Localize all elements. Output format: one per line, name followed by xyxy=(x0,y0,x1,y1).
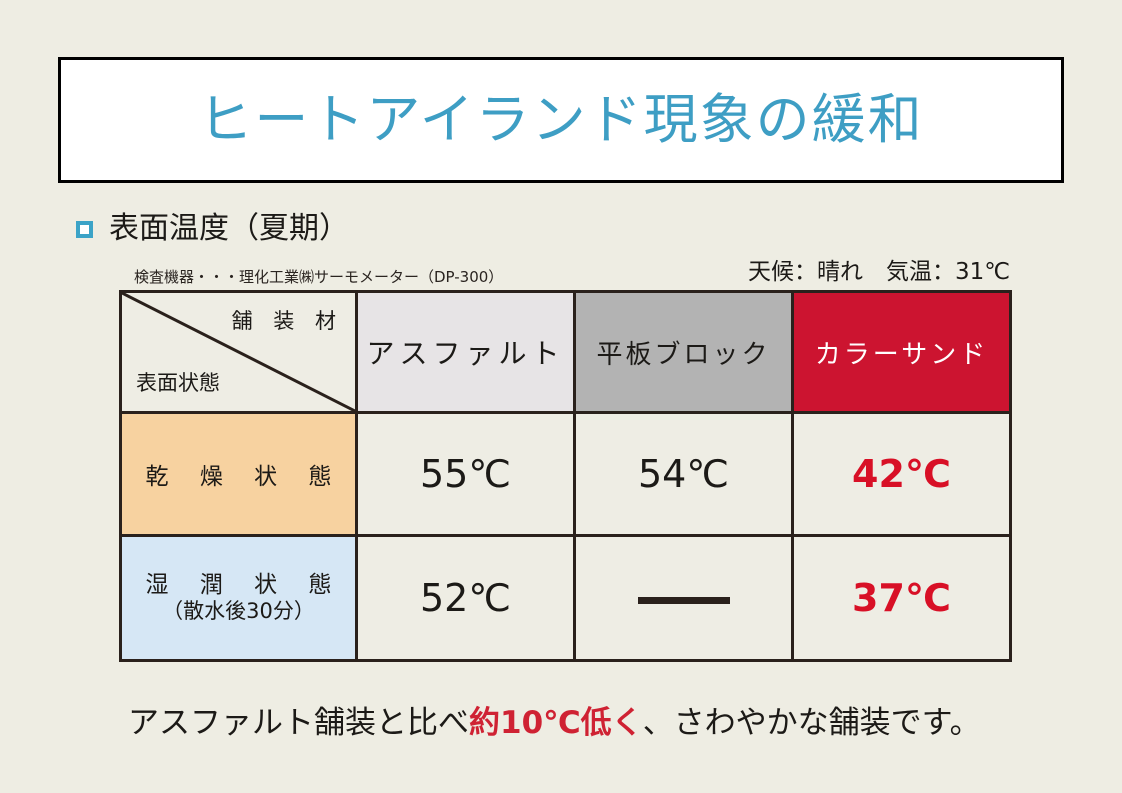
cell-wet-block xyxy=(575,536,793,661)
weather-note: 天候：晴れ 気温：31℃ xyxy=(748,252,1010,286)
corner-label-surface-state: 表面状態 xyxy=(136,367,220,397)
cell-dry-sand: 42℃ xyxy=(793,413,1011,536)
footer-text-after: 、さわやかな舗装です。 xyxy=(643,705,981,741)
row-label-wet-line1: 湿 潤 状 態 xyxy=(122,571,355,599)
row-label-wet-line2: （散水後30分） xyxy=(122,599,355,625)
cell-dry-block: 54℃ xyxy=(575,413,793,536)
section-heading: 表面温度（夏期） xyxy=(76,214,349,244)
row-label-wet: 湿 潤 状 態 （散水後30分） xyxy=(121,536,357,661)
footer-caption: アスファルト舗装と比べ約10℃低く、さわやかな舗装です。 xyxy=(128,697,981,742)
footer-text-before: アスファルト舗装と比べ xyxy=(128,705,469,741)
page-title: ヒートアイランド現象の緩和 xyxy=(198,93,923,147)
footer-text-emphasis: 約10℃低く xyxy=(469,705,643,741)
section-heading-label: 表面温度（夏期） xyxy=(109,214,349,244)
row-label-dry: 乾 燥 状 態 xyxy=(121,413,357,536)
table-row: 湿 潤 状 態 （散水後30分） 52℃ 37℃ xyxy=(121,536,1011,661)
square-bullet-icon xyxy=(76,221,93,238)
dash-icon xyxy=(638,597,730,604)
table-header-row: 舗 装 材 表面状態 アスファルト 平板ブロック カラーサンド xyxy=(121,292,1011,413)
table-corner-cell: 舗 装 材 表面状態 xyxy=(121,292,357,413)
cell-dry-asphalt: 55℃ xyxy=(357,413,575,536)
slide-title-box: ヒートアイランド現象の緩和 xyxy=(58,57,1064,183)
column-header-color-sand: カラーサンド xyxy=(793,292,1011,413)
equipment-note: 検査機器・・・理化工業㈱サーモメーター（DP-300） xyxy=(134,266,503,287)
column-header-flat-block: 平板ブロック xyxy=(575,292,793,413)
cell-wet-asphalt: 52℃ xyxy=(357,536,575,661)
column-header-asphalt: アスファルト xyxy=(357,292,575,413)
cell-wet-sand: 37℃ xyxy=(793,536,1011,661)
corner-label-material: 舗 装 材 xyxy=(232,305,343,335)
table-row: 乾 燥 状 態 55℃ 54℃ 42℃ xyxy=(121,413,1011,536)
surface-temperature-table: 舗 装 材 表面状態 アスファルト 平板ブロック カラーサンド 乾 燥 状 態 … xyxy=(119,290,1012,662)
